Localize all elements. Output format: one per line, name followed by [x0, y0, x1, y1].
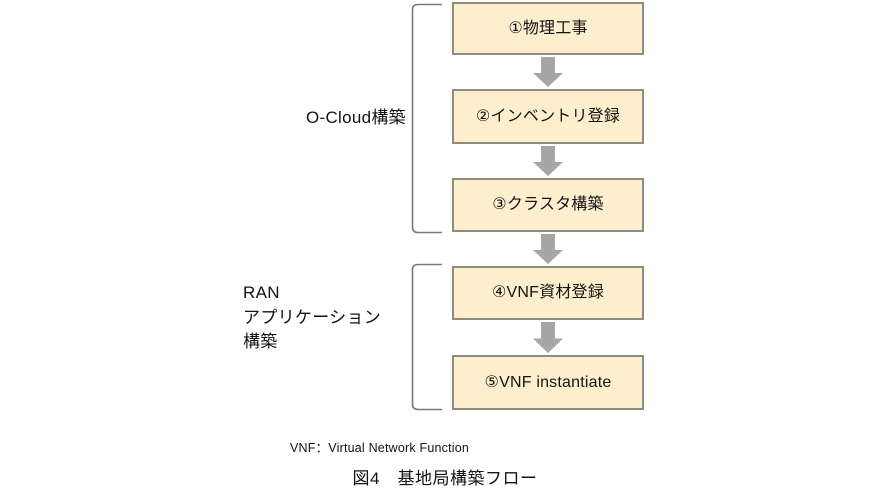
group-label-ran-line-2: アプリケーション: [243, 306, 413, 331]
flow-step-1[interactable]: ①物理工事: [452, 2, 644, 55]
arrow-down-icon: [533, 322, 563, 353]
flow-step-2-label: ②インベントリ登録: [476, 107, 620, 126]
abbreviation-footnote: VNF：Virtual Network Function: [290, 437, 469, 456]
flow-step-5[interactable]: ⑤VNF instantiate: [452, 355, 644, 410]
group-bracket-o-cloud: [410, 3, 444, 234]
flow-step-3-label: ③クラスタ構築: [492, 195, 603, 214]
group-label-ran-application: RAN アプリケーション 構築: [243, 281, 413, 355]
flow-step-4-label: ④VNF資材登録: [492, 283, 604, 302]
arrow-down-icon: [533, 57, 563, 87]
group-label-ran-line-1: RAN: [243, 281, 413, 306]
flow-step-1-label: ①物理工事: [508, 19, 587, 38]
figure-canvas: O-Cloud構築 RAN アプリケーション 構築 ①物理工事 ②インベントリ登…: [0, 0, 890, 500]
flow-step-3[interactable]: ③クラスタ構築: [452, 178, 644, 232]
flow-step-2[interactable]: ②インベントリ登録: [452, 89, 644, 144]
flow-step-4[interactable]: ④VNF資材登録: [452, 266, 644, 320]
group-label-o-cloud: O-Cloud構築: [180, 106, 406, 131]
arrow-down-icon: [533, 234, 563, 264]
group-bracket-ran-application: [410, 263, 444, 411]
arrow-down-icon: [533, 146, 563, 176]
group-label-ran-line-3: 構築: [243, 330, 413, 355]
flow-step-5-label: ⑤VNF instantiate: [485, 373, 612, 392]
figure-caption: 図4 基地局構築フロー: [0, 464, 890, 489]
